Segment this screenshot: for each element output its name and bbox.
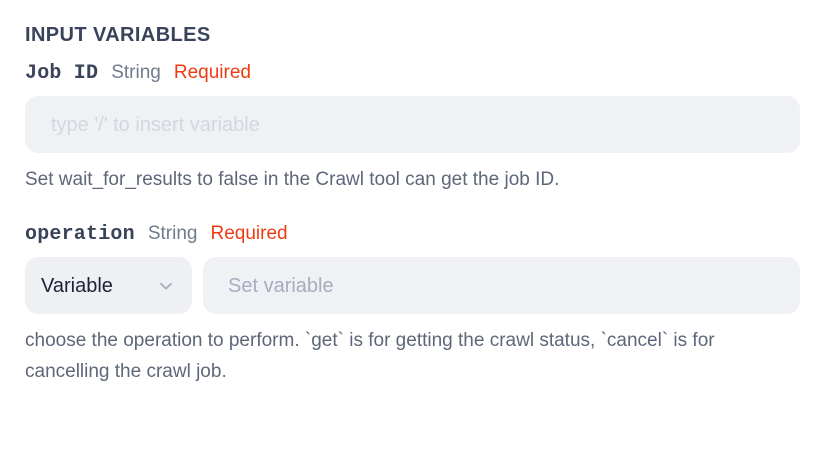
chevron-down-icon — [157, 277, 175, 295]
operation-field-row: Variable Set variable — [25, 257, 800, 314]
operation-value-input-placeholder: Set variable — [228, 276, 334, 296]
page-title: INPUT VARIABLES — [25, 22, 800, 48]
variable-label-row-operation: operation String Required — [25, 221, 800, 248]
job-id-input-placeholder: type '/' to insert variable — [51, 115, 260, 135]
variable-description-job-id: Set wait_for_results to false in the Cra… — [25, 164, 785, 195]
job-id-input[interactable]: type '/' to insert variable — [25, 96, 800, 153]
operation-mode-select[interactable]: Variable — [25, 257, 192, 314]
operation-value-input[interactable]: Set variable — [203, 257, 800, 314]
input-variables-panel: INPUT VARIABLES Job ID String Required t… — [0, 0, 820, 462]
variable-label-row-job-id: Job ID String Required — [25, 60, 800, 87]
variable-required-badge-operation: Required — [210, 221, 287, 247]
operation-mode-select-value: Variable — [41, 276, 113, 296]
variable-type-operation: String — [148, 221, 198, 247]
variable-description-operation: choose the operation to perform. `get` i… — [25, 325, 785, 387]
variable-required-badge-job-id: Required — [174, 60, 251, 86]
variable-name-job-id: Job ID — [25, 61, 98, 87]
variable-type-job-id: String — [111, 60, 161, 86]
variable-name-operation: operation — [25, 222, 135, 248]
section-spacer — [25, 195, 800, 221]
